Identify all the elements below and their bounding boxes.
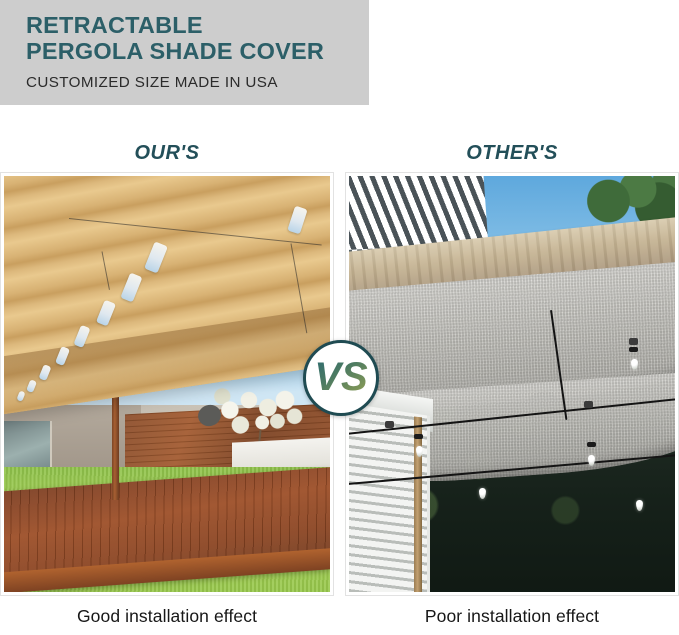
vs-label: VS	[314, 357, 368, 399]
photo-others-inner	[349, 176, 675, 592]
photo-ours-inner	[4, 176, 330, 592]
caption-others: Poor installation effect	[345, 606, 679, 627]
light-bulb	[631, 359, 638, 370]
photo-panel-ours	[0, 172, 334, 596]
pergola-post	[112, 384, 119, 500]
flowering-tree-canopy	[209, 384, 304, 446]
vs-badge: VS	[303, 340, 379, 416]
caption-ours: Good installation effect	[0, 606, 334, 627]
wood-post	[414, 417, 422, 592]
cable-clip	[385, 421, 394, 428]
good-installation-photo	[4, 176, 330, 592]
bulb-socket	[587, 442, 596, 447]
bulb-socket	[629, 347, 638, 352]
poor-installation-photo	[349, 176, 675, 592]
page-subtitle: CUSTOMIZED SIZE MADE IN USA	[26, 74, 369, 91]
cable-clip	[629, 338, 638, 345]
page-title: RETRACTABLE PERGOLA SHADE COVER	[26, 12, 369, 64]
header-banner: RETRACTABLE PERGOLA SHADE COVER CUSTOMIZ…	[0, 0, 369, 105]
cable-clip	[584, 401, 593, 408]
label-others: OTHER'S	[345, 142, 679, 165]
photo-panel-others	[345, 172, 679, 596]
bulb-socket	[414, 434, 423, 439]
label-ours: OUR'S	[0, 142, 334, 165]
